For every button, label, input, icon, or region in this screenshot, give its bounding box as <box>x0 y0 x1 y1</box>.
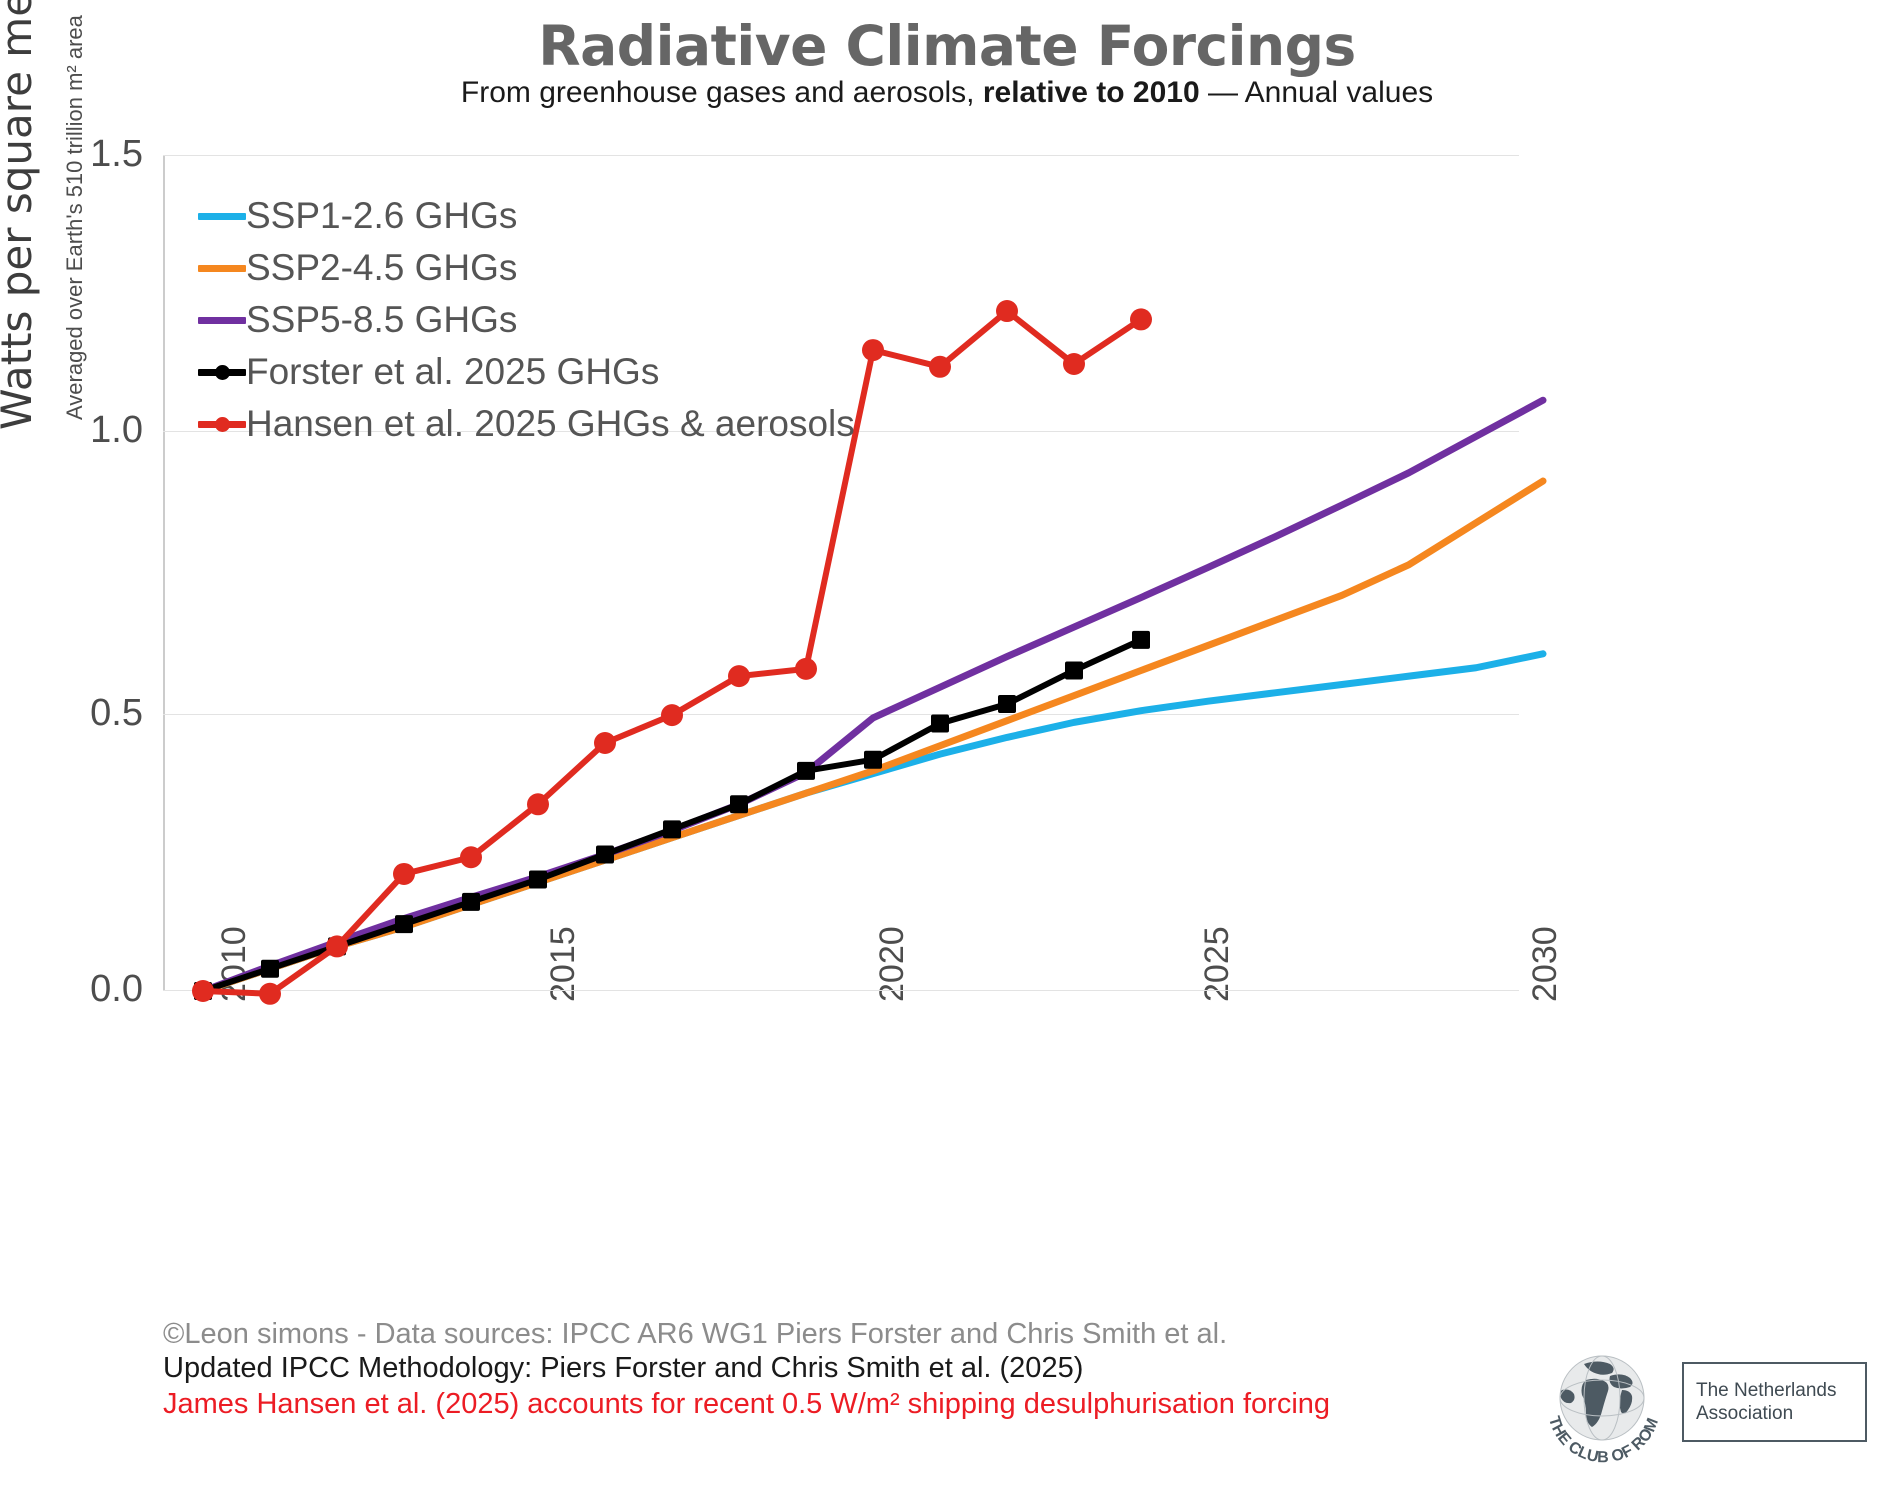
data-point-marker <box>998 695 1016 713</box>
legend-item-ssp2[interactable]: SSP2-4.5 GHGs <box>198 242 855 294</box>
series-ssp2-4-5-ghgs <box>203 481 1543 991</box>
logo-tagline-1: The Netherlands <box>1696 1379 1865 1402</box>
legend-label-forster: Forster et al. 2025 GHGs <box>246 351 659 393</box>
logo-tagline-2: Association <box>1696 1402 1865 1425</box>
data-point-marker <box>795 658 817 680</box>
x-tick-label-2030: 2030 <box>1526 926 1565 1002</box>
legend-line-dot-icon-forster <box>198 355 246 389</box>
data-point-marker <box>862 339 884 361</box>
footer-hansen-note-line: James Hansen et al. (2025) accounts for … <box>163 1388 1330 1421</box>
data-point-marker <box>728 665 750 687</box>
series-line <box>203 654 1543 991</box>
data-point-marker <box>462 893 480 911</box>
club-of-rome-logo: THE CLUB OF ROME The Netherlands Associa… <box>1530 1340 1880 1490</box>
series-ssp1-2-6-ghgs <box>203 654 1543 991</box>
data-point-marker <box>594 732 616 754</box>
subtitle-before: From greenhouse gases and aerosols, <box>461 76 983 109</box>
legend-label-ssp5: SSP5-8.5 GHGs <box>246 299 517 341</box>
y-tick-label-1: 1.0 <box>33 409 143 452</box>
data-point-marker <box>929 356 951 378</box>
page-title: Radiative Climate Forcings <box>0 14 1894 78</box>
data-point-marker <box>460 846 482 868</box>
series-line <box>203 481 1543 991</box>
legend-label-ssp2: SSP2-4.5 GHGs <box>246 247 517 289</box>
data-point-marker <box>663 820 681 838</box>
data-point-marker <box>395 915 413 933</box>
legend-line-dot-icon-hansen <box>198 407 246 441</box>
logo-tagline-box: The Netherlands Association <box>1682 1362 1867 1442</box>
data-point-marker <box>1132 631 1150 649</box>
data-point-marker <box>192 980 214 1002</box>
series-line <box>203 400 1543 991</box>
legend-item-ssp1[interactable]: SSP1-2.6 GHGs <box>198 190 855 242</box>
footer-methodology-line: Updated IPCC Methodology: Piers Forster … <box>163 1352 1083 1385</box>
data-point-marker <box>1065 662 1083 680</box>
y-axis-subtitle: Averaged over Earth's 510 trillion m² ar… <box>62 15 88 420</box>
subtitle-bold: relative to 2010 <box>983 76 1200 109</box>
data-point-marker <box>661 704 683 726</box>
y-axis-title: Watts per square meter (W/m²) <box>0 0 41 430</box>
series-ssp5-8-5-ghgs <box>203 400 1543 991</box>
legend-item-forster[interactable]: Forster et al. 2025 GHGs <box>198 346 855 398</box>
data-point-marker <box>1130 308 1152 330</box>
legend-line-icon-ssp1 <box>198 199 246 233</box>
y-tick-label-3: 0.0 <box>33 968 143 1011</box>
subtitle-after: — Annual values <box>1200 76 1433 109</box>
legend-item-ssp5[interactable]: SSP5-8.5 GHGs <box>198 294 855 346</box>
globe-icon: THE CLUB OF ROME <box>1540 1346 1670 1476</box>
chart-legend: SSP1-2.6 GHGs SSP2-4.5 GHGs SSP5-8.5 GHG… <box>198 190 855 450</box>
legend-label-hansen: Hansen et al. 2025 GHGs & aerosols <box>246 403 855 445</box>
data-point-marker <box>326 935 348 957</box>
data-point-marker <box>261 960 279 978</box>
data-point-marker <box>931 714 949 732</box>
legend-item-hansen[interactable]: Hansen et al. 2025 GHGs & aerosols <box>198 398 855 450</box>
data-point-marker <box>996 300 1018 322</box>
y-tick-label-0: 1.5 <box>33 133 143 176</box>
data-point-marker <box>596 845 614 863</box>
data-point-marker <box>393 863 415 885</box>
data-point-marker <box>864 751 882 769</box>
legend-label-ssp1: SSP1-2.6 GHGs <box>246 195 517 237</box>
data-point-marker <box>797 762 815 780</box>
data-point-marker <box>1063 353 1085 375</box>
data-point-marker <box>730 795 748 813</box>
y-tick-label-2: 0.5 <box>33 692 143 735</box>
footer-credit-line: ©Leon simons - Data sources: IPCC AR6 WG… <box>163 1318 1227 1351</box>
data-point-marker <box>527 793 549 815</box>
page-subtitle: From greenhouse gases and aerosols, rela… <box>0 76 1894 110</box>
data-point-marker <box>259 983 281 1005</box>
data-point-marker <box>529 871 547 889</box>
legend-line-icon-ssp5 <box>198 303 246 337</box>
legend-line-icon-ssp2 <box>198 251 246 285</box>
